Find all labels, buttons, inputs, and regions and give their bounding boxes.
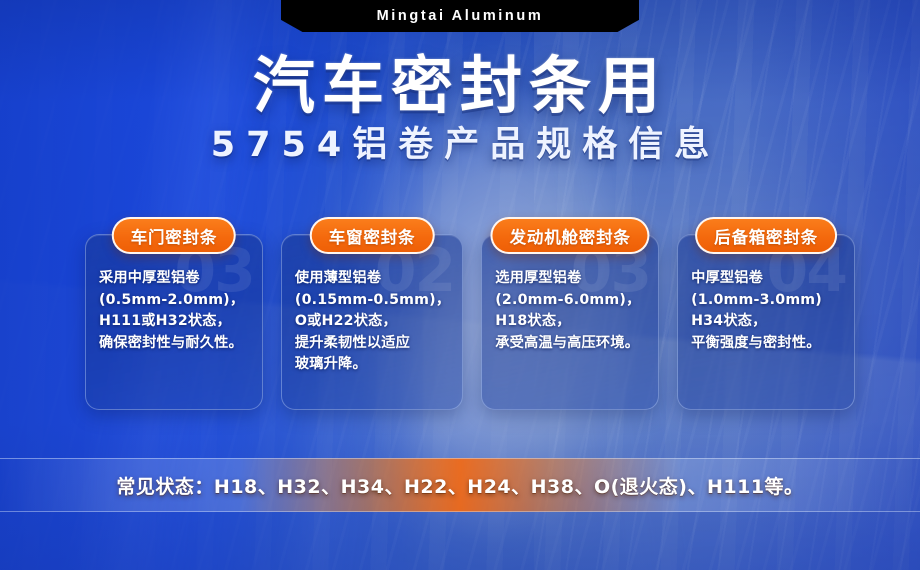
- card-line: 确保密封性与耐久性。: [99, 333, 250, 355]
- card-line: 玻璃升降。: [295, 354, 450, 376]
- card-line: 使用薄型铝卷: [295, 268, 450, 290]
- spec-card-row: 03 车门密封条 采用中厚型铝卷 (0.5mm-2.0mm)， H111或H32…: [85, 234, 855, 410]
- card-line: (1.0mm-3.0mm): [691, 290, 842, 312]
- spec-card-engine-bay[interactable]: 03 发动机舱密封条 选用厚型铝卷 (2.0mm-6.0mm)， H18状态， …: [481, 234, 659, 410]
- card-line: 平衡强度与密封性。: [691, 333, 842, 355]
- footer-temper-band: 常见状态：H18、H32、H34、H22、H24、H38、O(退火态)、H111…: [0, 458, 920, 512]
- card-badge-window[interactable]: 车窗密封条: [310, 217, 435, 254]
- brand-banner: Mingtai Aluminum: [281, 0, 639, 32]
- card-body: 使用薄型铝卷 (0.15mm-0.5mm)， O或H22状态， 提升柔韧性以适应…: [282, 235, 462, 386]
- page-title: 汽车密封条用: [0, 54, 920, 118]
- card-badge-label: 发动机舱密封条: [510, 224, 631, 248]
- card-line: H18状态，: [495, 311, 646, 333]
- spec-card-trunk[interactable]: 04 后备箱密封条 中厚型铝卷 (1.0mm-3.0mm) H34状态， 平衡强…: [677, 234, 855, 410]
- card-body: 中厚型铝卷 (1.0mm-3.0mm) H34状态， 平衡强度与密封性。: [678, 235, 854, 364]
- card-body: 采用中厚型铝卷 (0.5mm-2.0mm)， H111或H32状态， 确保密封性…: [86, 235, 262, 364]
- card-line: H111或H32状态，: [99, 311, 250, 333]
- card-line: 中厚型铝卷: [691, 268, 842, 290]
- card-line: 提升柔韧性以适应: [295, 333, 450, 355]
- card-line: O或H22状态，: [295, 311, 450, 333]
- card-badge-label: 车窗密封条: [329, 224, 416, 248]
- infographic-poster: Mingtai Aluminum 汽车密封条用 5754铝卷产品规格信息 03 …: [0, 0, 920, 570]
- card-line: (0.15mm-0.5mm)，: [295, 290, 450, 312]
- footer-temper-text: 常见状态：H18、H32、H34、H22、H24、H38、O(退火态)、H111…: [116, 472, 803, 499]
- spec-card-window[interactable]: 02 车窗密封条 使用薄型铝卷 (0.15mm-0.5mm)， O或H22状态，…: [281, 234, 463, 410]
- card-line: (2.0mm-6.0mm)，: [495, 290, 646, 312]
- card-badge-door[interactable]: 车门密封条: [112, 217, 237, 254]
- card-line: (0.5mm-2.0mm)，: [99, 290, 250, 312]
- card-badge-trunk[interactable]: 后备箱密封条: [695, 217, 837, 254]
- card-line: 采用中厚型铝卷: [99, 268, 250, 290]
- card-line: 承受高温与高压环境。: [495, 333, 646, 355]
- page-subtitle: 5754铝卷产品规格信息: [0, 126, 920, 165]
- card-line: 选用厚型铝卷: [495, 268, 646, 290]
- card-badge-label: 车门密封条: [131, 224, 218, 248]
- card-badge-label: 后备箱密封条: [714, 224, 818, 248]
- spec-card-door[interactable]: 03 车门密封条 采用中厚型铝卷 (0.5mm-2.0mm)， H111或H32…: [85, 234, 263, 410]
- card-line: H34状态，: [691, 311, 842, 333]
- card-body: 选用厚型铝卷 (2.0mm-6.0mm)， H18状态， 承受高温与高压环境。: [482, 235, 658, 364]
- card-badge-engine-bay[interactable]: 发动机舱密封条: [491, 217, 650, 254]
- brand-name: Mingtai Aluminum: [377, 8, 544, 24]
- title-block: 汽车密封条用 5754铝卷产品规格信息: [0, 54, 920, 165]
